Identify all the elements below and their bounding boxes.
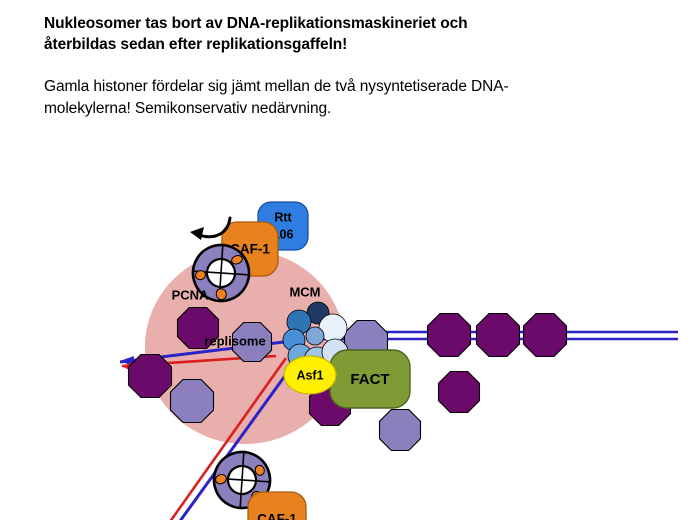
nucleosome-old — [129, 355, 172, 398]
pcna-top-label: PCNA — [172, 287, 209, 302]
fact-complex[interactable]: FACT — [330, 350, 410, 408]
caf1-bottom[interactable]: CAF-1 — [248, 492, 306, 520]
mcm-subunit — [306, 327, 324, 345]
asf1-label: Asf1 — [296, 368, 323, 382]
heading-line-2: återbildas sedan efter replikationsgaffe… — [44, 35, 654, 56]
heading-line-1: Nukleosomer tas bort av DNA-replikations… — [44, 14, 654, 35]
replication-fork-diagram: FACT Asf1 Rtt 106 CAF-1 — [0, 150, 694, 520]
mcm-label: MCM — [289, 284, 320, 299]
rtt106-top-label-line1: Rtt — [274, 210, 292, 224]
slide-canvas: Nukleosomer tas bort av DNA-replikations… — [0, 0, 694, 520]
parental-nucleosome-group — [428, 314, 567, 357]
body-line-1: Gamla histoner fördelar sig jämt mellan … — [44, 76, 658, 98]
replisome-label: replisome — [204, 333, 265, 348]
slide-body: Gamla histoner fördelar sig jämt mellan … — [44, 76, 658, 119]
nucleosome-new — [171, 380, 214, 423]
asf1-chaperone[interactable]: Asf1 — [284, 356, 336, 394]
caf1-bottom-label: CAF-1 — [257, 512, 297, 520]
nucleosome-new — [380, 410, 421, 451]
nucleosome-old — [477, 314, 520, 357]
body-line-2: molekylerna! Semikonservativ nedärvning. — [44, 98, 658, 120]
nucleosome-old — [428, 314, 471, 357]
nucleosome-old — [439, 372, 480, 413]
nucleosome-old — [524, 314, 567, 357]
slide-heading: Nukleosomer tas bort av DNA-replikations… — [44, 14, 654, 56]
fact-label: FACT — [350, 371, 389, 388]
